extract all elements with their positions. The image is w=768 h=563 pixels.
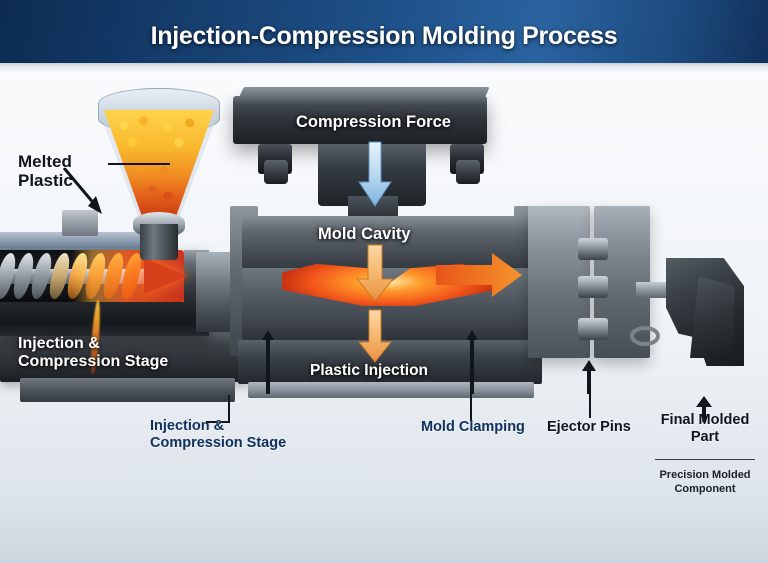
screw-tip [144,258,184,294]
title-banner: Injection-Compression Molding Process [0,0,768,72]
arrow-down-orange-icon [357,310,393,364]
arrow-up-black-icon [258,330,278,394]
label-melted-plastic: Melted Plastic [18,152,73,191]
label-final-molded-part: Final Molded Part [649,412,761,445]
label-mold-cavity: Mold Cavity [318,225,411,244]
machine-bed-foot [20,378,235,402]
leader-line-mold-clamping [470,393,472,421]
arrow-up-black-icon [578,360,600,394]
label-injection-compression-stage: Injection & Compression Stage [150,418,286,451]
hopper-neck [140,224,178,260]
arrow-down-blue-icon [357,142,393,208]
ejector-ring [630,326,660,346]
label-ejector-pins: Ejector Pins [547,419,631,436]
leader-line-ejector-pins [589,392,591,418]
mold-plinth [248,382,534,398]
page-title: Injection-Compression Molding Process [151,22,618,51]
cylinder-base-right [456,160,480,184]
arrow-right-orange-icon [436,252,524,298]
label-mold-clamping: Mold Clamping [421,419,525,436]
arrow-up-black-icon [462,330,482,394]
leader-line-melted-plastic [108,163,170,165]
diagram-canvas: Injection-Compression Molding Process [0,0,768,563]
label-compression-force: Compression Force [296,113,451,132]
ejector-pin [578,238,608,260]
injection-barrel [0,250,209,336]
barrel-collar [196,252,232,332]
label-plastic-injection: Plastic Injection [310,362,428,380]
arrow-down-orange-icon [355,245,395,303]
ejector-pin [578,318,608,340]
ejector-pin [578,276,608,298]
caption-divider [655,459,755,460]
caption-precision-molded-component: Precision Molded Component [645,469,765,497]
cylinder-base-left [264,160,288,184]
label-injection-compression-stage-machine: Injection & Compression Stage [18,335,168,371]
floor-surface [0,443,768,563]
